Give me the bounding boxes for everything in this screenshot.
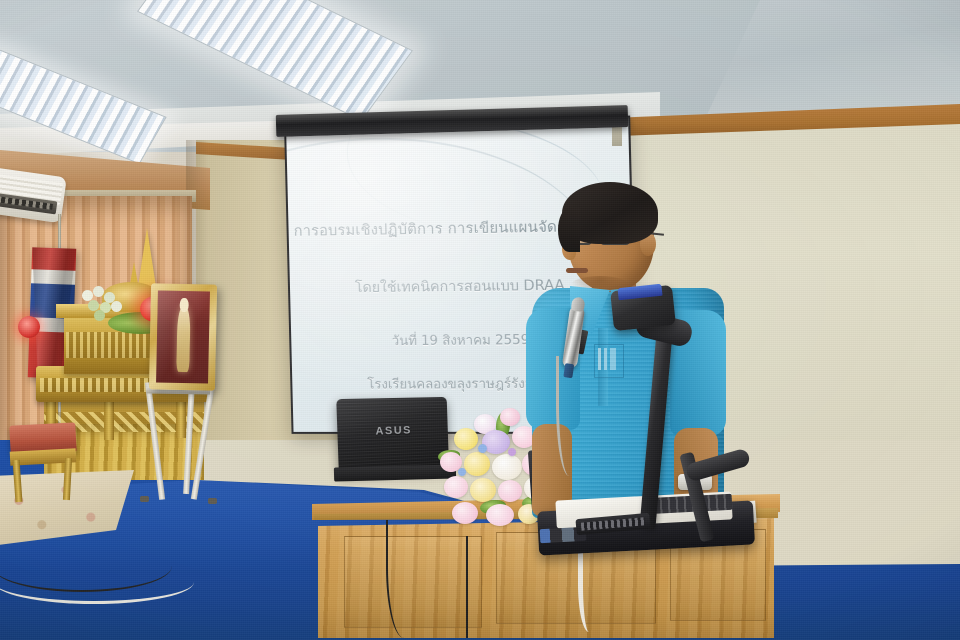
mouth: [566, 268, 588, 273]
altar-leg: [176, 398, 186, 438]
altar-red-lamp-secondary: [18, 316, 40, 338]
portrait-canvas: [156, 290, 210, 383]
bouquet-filler-bud: [478, 444, 487, 453]
bouquet-flower: [454, 428, 478, 450]
bouquet-flower: [470, 478, 496, 502]
photo-scene: การอบรมเชิงปฏิบัติการ การเขียนแผนจัดการเ…: [0, 0, 960, 640]
bouquet-flower: [464, 452, 490, 476]
bouquet-flower: [452, 502, 478, 524]
easel-foot: [208, 498, 217, 504]
easel-foot: [140, 496, 149, 502]
shirt-pocket-logo: [598, 348, 616, 370]
hair: [562, 182, 658, 244]
altar-leg: [104, 400, 114, 440]
bouquet-filler-bud: [508, 448, 516, 456]
bouquet-flower: [486, 504, 514, 526]
laptop-brand-logo: ASUS: [375, 424, 412, 437]
royal-portrait-in-gold-frame: [149, 283, 217, 390]
altar-flower-vase: [80, 286, 126, 320]
bouquet-flower: [444, 476, 468, 498]
bouquet-flower: [492, 454, 522, 480]
laptop-lid: ASUS: [336, 397, 449, 475]
wall-split-air-conditioner[interactable]: [0, 167, 67, 223]
bouquet-filler-bud: [458, 468, 466, 476]
bouquet-flower: [500, 408, 520, 426]
bouquet-flower: [498, 480, 522, 502]
portrait-glass-glare: [156, 290, 210, 383]
